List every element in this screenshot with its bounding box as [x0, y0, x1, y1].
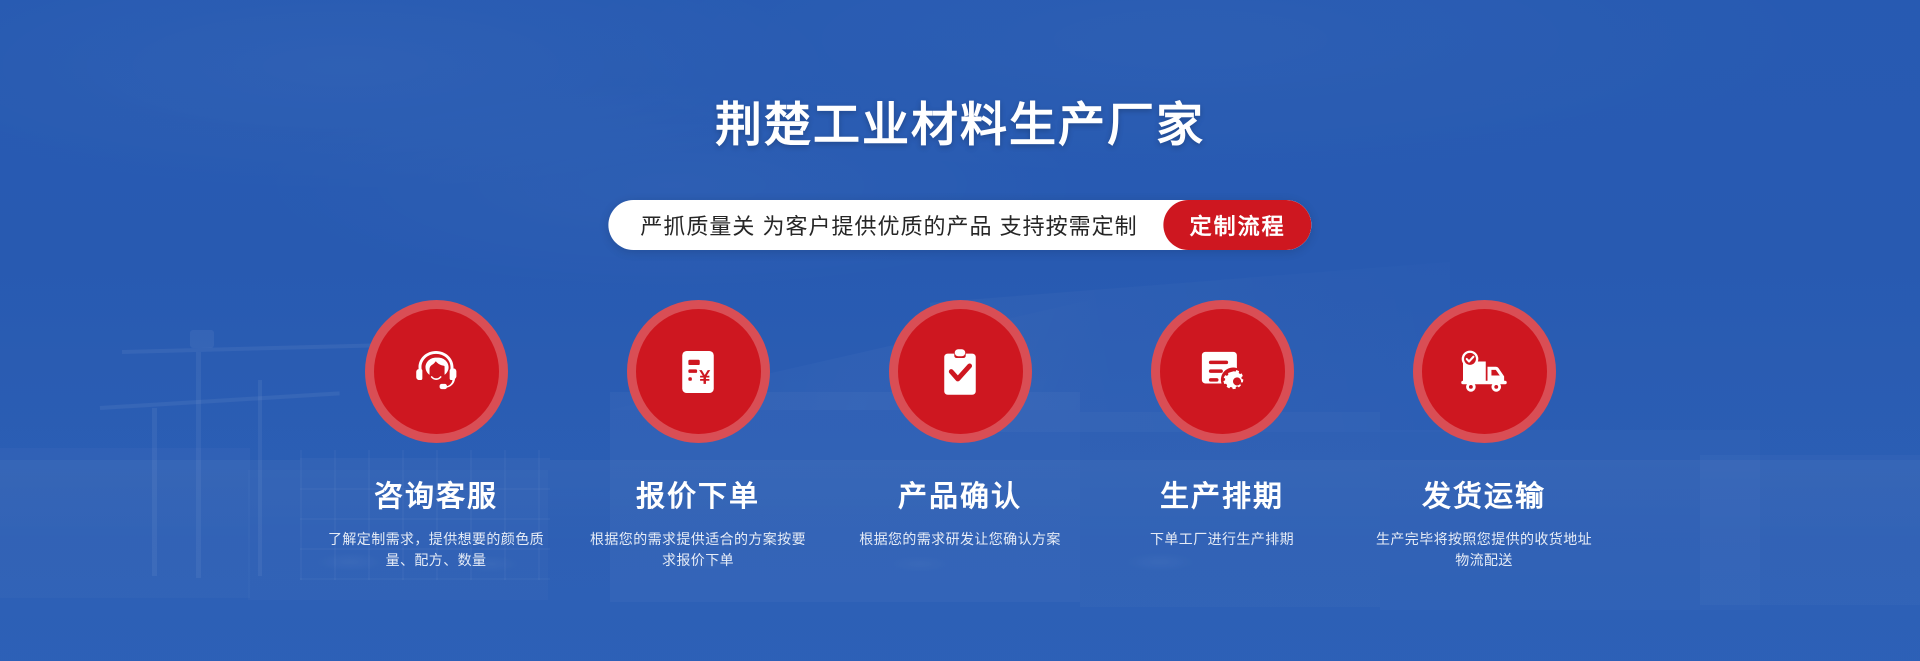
step-icon-circle [1151, 300, 1294, 443]
step-title: 咨询客服 [374, 473, 498, 515]
step-icon-circle [889, 300, 1032, 443]
step-description: 根据您的需求研发让您确认方案 [859, 529, 1061, 550]
invoice-yuan-icon [670, 344, 726, 400]
step-title: 生产排期 [1160, 473, 1284, 515]
promo-banner: 荆楚工业材料生产厂家 严抓质量关 为客户提供优质的产品 支持按需定制 定制流程 [0, 0, 1920, 661]
process-step-confirm[interactable]: 产品确认 根据您的需求研发让您确认方案 [829, 300, 1091, 550]
step-description: 了解定制需求，提供想要的颜色质量、配方、数量 [321, 529, 551, 571]
step-title: 产品确认 [898, 473, 1022, 515]
promo-text: 严抓质量关 为客户提供优质的产品 支持按需定制 [608, 200, 1163, 250]
page-title: 荆楚工业材料生产厂家 [0, 86, 1920, 155]
process-step-consult[interactable]: 咨询客服 了解定制需求，提供想要的颜色质量、配方、数量 [305, 300, 567, 571]
step-icon-circle [1413, 300, 1556, 443]
document-gear-icon [1194, 344, 1250, 400]
step-title: 报价下单 [636, 473, 760, 515]
delivery-truck-check-icon [1456, 344, 1512, 400]
process-step-schedule[interactable]: 生产排期 下单工厂进行生产排期 [1091, 300, 1353, 550]
clipboard-check-icon [932, 344, 988, 400]
process-step-delivery[interactable]: 发货运输 生产完毕将按照您提供的收货地址物流配送 [1353, 300, 1615, 571]
promo-bar: 严抓质量关 为客户提供优质的产品 支持按需定制 定制流程 [608, 200, 1311, 250]
process-steps: 咨询客服 了解定制需求，提供想要的颜色质量、配方、数量 [0, 300, 1920, 571]
step-description: 根据您的需求提供适合的方案按要求报价下单 [583, 529, 813, 571]
step-icon-circle [365, 300, 508, 443]
step-icon-circle [627, 300, 770, 443]
headset-support-icon [408, 344, 464, 400]
step-description: 生产完毕将按照您提供的收货地址物流配送 [1369, 529, 1599, 571]
process-step-quote[interactable]: 报价下单 根据您的需求提供适合的方案按要求报价下单 [567, 300, 829, 571]
custom-process-button[interactable]: 定制流程 [1164, 200, 1312, 250]
step-description: 下单工厂进行生产排期 [1150, 529, 1294, 550]
step-title: 发货运输 [1422, 473, 1546, 515]
